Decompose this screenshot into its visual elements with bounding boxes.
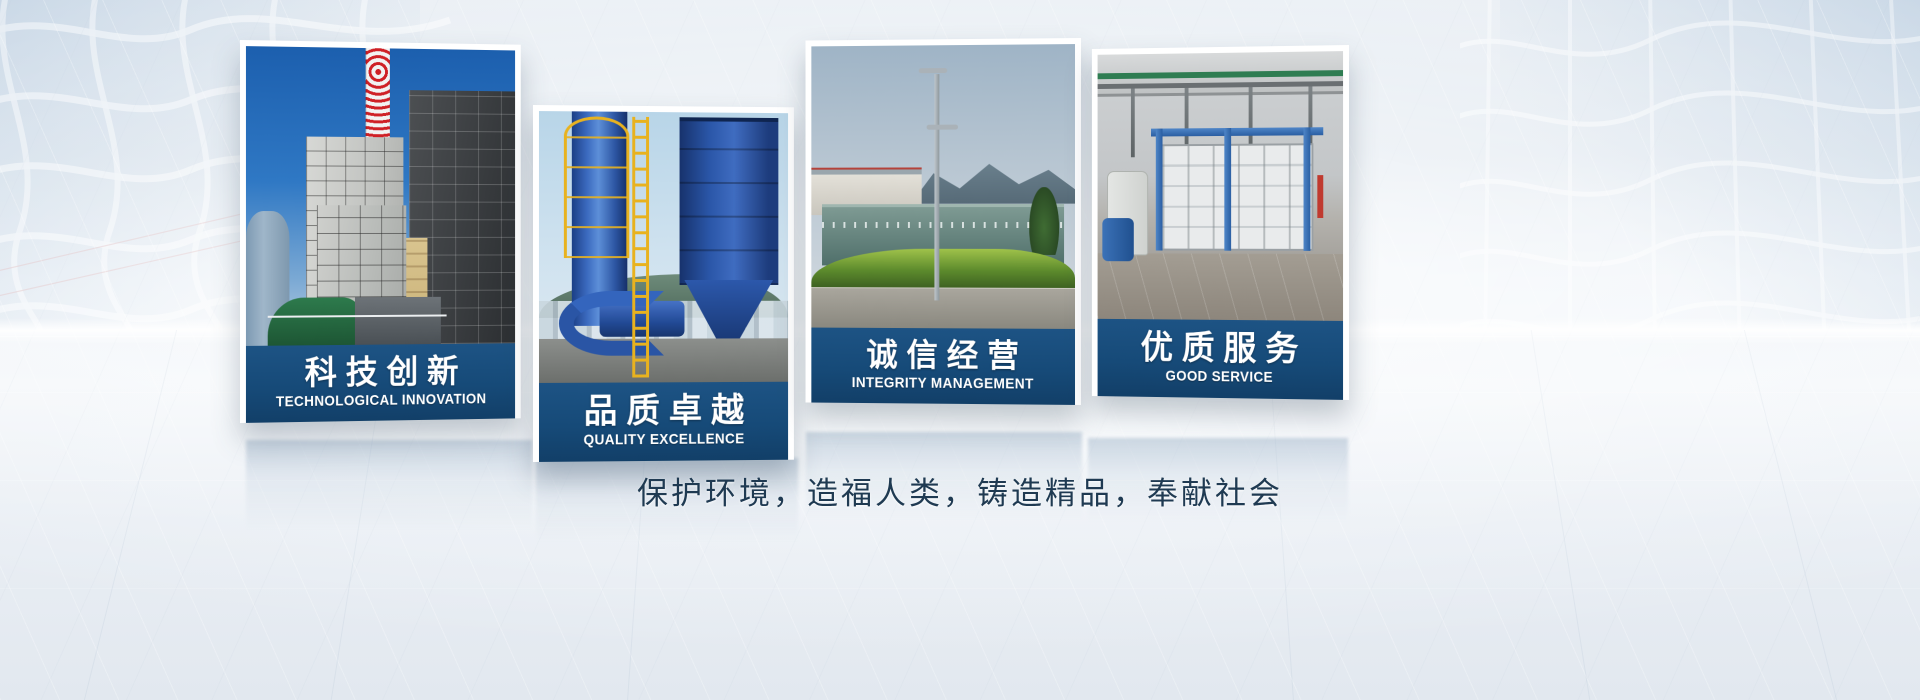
feature-card-quality-excellence[interactable]: 品质卓越 QUALITY EXCELLENCE: [533, 105, 794, 462]
card-title-cn-4: 优质服务: [1101, 329, 1339, 369]
feature-card-technological-innovation[interactable]: 科技创新 TECHNOLOGICAL INNOVATION: [240, 40, 521, 423]
card-title-en-2: QUALITY EXCELLENCE: [553, 431, 775, 449]
card-title-cn-2: 品质卓越: [543, 392, 784, 431]
card-photo-industrial-chimney: [246, 46, 515, 346]
card-title-en-4: GOOD SERVICE: [1111, 368, 1330, 387]
feature-card-good-service[interactable]: 优质服务 GOOD SERVICE: [1092, 45, 1349, 400]
card-caption-band-4: 优质服务 GOOD SERVICE: [1098, 319, 1343, 400]
feature-card-integrity-management[interactable]: 诚信经营 INTEGRITY MANAGEMENT: [806, 38, 1081, 405]
card-caption-band-3: 诚信经营 INTEGRITY MANAGEMENT: [811, 328, 1075, 406]
card-title-cn-3: 诚信经营: [815, 337, 1071, 374]
hero-banner: 科技创新 TECHNOLOGICAL INNOVATION 品质卓越: [0, 0, 1920, 700]
card-photo-wastewater-plant: [811, 44, 1075, 329]
card-title-en-3: INTEGRITY MANAGEMENT: [825, 375, 1060, 393]
card-photo-ro-membrane-room: [1098, 51, 1343, 321]
banner-tagline: 保护环境，造福人类，铸造精品，奉献社会: [0, 468, 1920, 513]
card-title-en-1: TECHNOLOGICAL INNOVATION: [261, 391, 501, 411]
card-caption-band-1: 科技创新 TECHNOLOGICAL INNOVATION: [246, 343, 515, 423]
card-photo-blue-scrubber: [539, 111, 788, 383]
card-caption-band-2: 品质卓越 QUALITY EXCELLENCE: [539, 382, 788, 462]
card-title-cn-1: 科技创新: [250, 353, 511, 393]
